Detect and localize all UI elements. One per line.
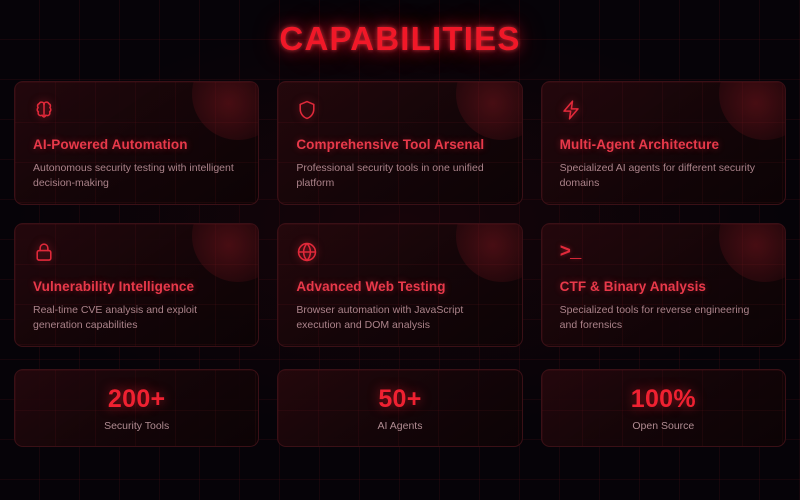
feature-card-advanced-web-testing[interactable]: Advanced Web Testing Browser automation … bbox=[277, 223, 522, 347]
brain-icon bbox=[33, 99, 55, 121]
stat-value: 200+ bbox=[108, 385, 166, 414]
feature-title: Multi-Agent Architecture bbox=[560, 137, 769, 152]
feature-card-comprehensive-tool-arsenal[interactable]: Comprehensive Tool Arsenal Professional … bbox=[277, 81, 522, 205]
feature-title: AI-Powered Automation bbox=[33, 137, 242, 152]
feature-card-vulnerability-intelligence[interactable]: Vulnerability Intelligence Real-time CVE… bbox=[14, 223, 259, 347]
stat-card-ai-agents: 50+ AI Agents bbox=[277, 369, 522, 447]
feature-title: CTF & Binary Analysis bbox=[560, 279, 769, 294]
features-row-1: AI-Powered Automation Autonomous securit… bbox=[0, 81, 800, 205]
feature-title: Comprehensive Tool Arsenal bbox=[296, 137, 505, 152]
feature-card-ai-powered-automation[interactable]: AI-Powered Automation Autonomous securit… bbox=[14, 81, 259, 205]
stats-row: 200+ Security Tools 50+ AI Agents 100% O… bbox=[0, 369, 800, 447]
shield-icon bbox=[296, 99, 318, 121]
feature-description: Specialized AI agents for different secu… bbox=[560, 161, 765, 191]
feature-description: Professional security tools in one unifi… bbox=[296, 161, 501, 191]
feature-description: Specialized tools for reverse engineerin… bbox=[560, 303, 765, 333]
stat-label: AI Agents bbox=[378, 420, 423, 432]
feature-description: Browser automation with JavaScript execu… bbox=[296, 303, 501, 333]
feature-card-multi-agent-architecture[interactable]: Multi-Agent Architecture Specialized AI … bbox=[541, 81, 786, 205]
feature-description: Autonomous security testing with intelli… bbox=[33, 161, 238, 191]
features-row-2: Vulnerability Intelligence Real-time CVE… bbox=[0, 223, 800, 347]
lightning-bolt-icon bbox=[560, 99, 582, 121]
stat-value: 100% bbox=[631, 385, 696, 414]
stat-card-open-source: 100% Open Source bbox=[541, 369, 786, 447]
terminal-icon: >_ bbox=[560, 241, 581, 263]
stat-value: 50+ bbox=[378, 385, 421, 414]
feature-card-ctf-binary-analysis[interactable]: >_ CTF & Binary Analysis Specialized too… bbox=[541, 223, 786, 347]
capabilities-page: CAPABILITIES AI-Powered Automation Auton… bbox=[0, 0, 800, 500]
stat-card-security-tools: 200+ Security Tools bbox=[14, 369, 259, 447]
stat-label: Security Tools bbox=[104, 420, 169, 432]
page-title: CAPABILITIES bbox=[0, 0, 800, 58]
feature-title: Advanced Web Testing bbox=[296, 279, 505, 294]
stat-label: Open Source bbox=[632, 420, 694, 432]
lock-icon bbox=[33, 241, 55, 263]
feature-description: Real-time CVE analysis and exploit gener… bbox=[33, 303, 238, 333]
feature-title: Vulnerability Intelligence bbox=[33, 279, 242, 294]
globe-icon bbox=[296, 241, 318, 263]
